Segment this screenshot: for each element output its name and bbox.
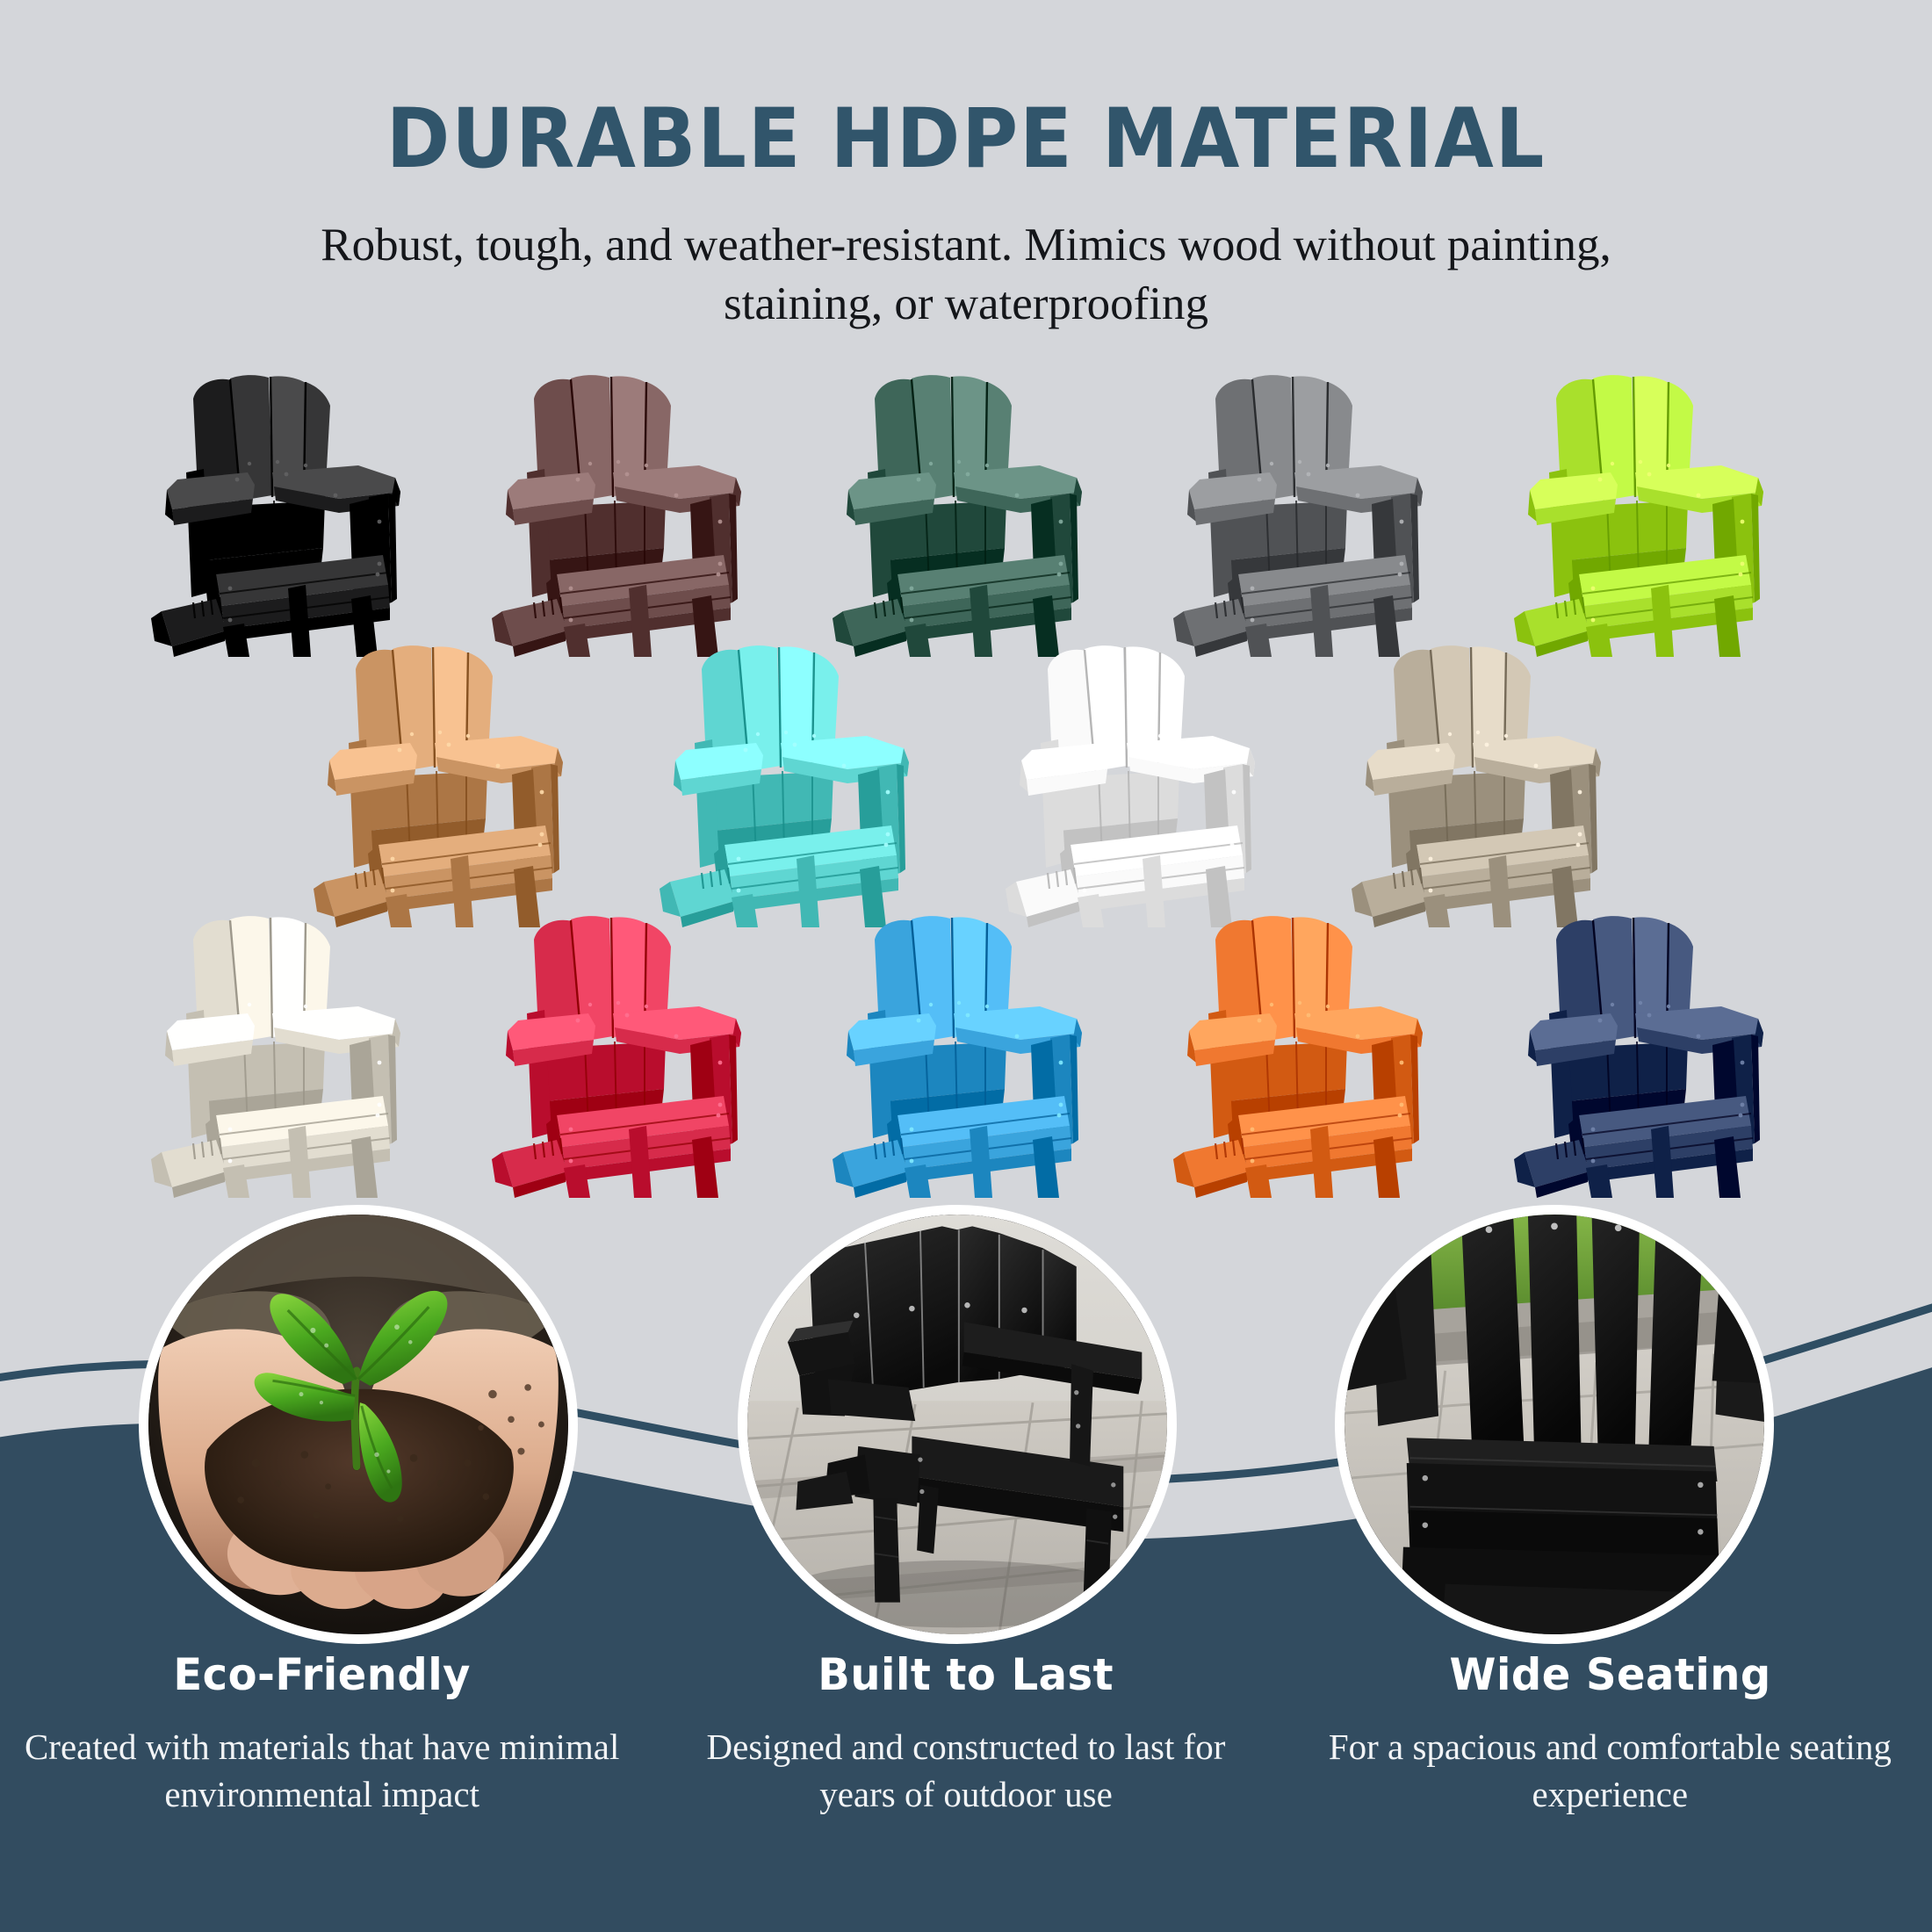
adirondack-chair-icon: [472, 367, 778, 657]
feature-title: Eco-Friendly: [35, 1649, 609, 1700]
header-section: DURABLE HDPE MATERIAL Robust, tough, and…: [0, 0, 1932, 334]
page-title: DURABLE HDPE MATERIAL: [68, 98, 1864, 181]
feature-title: Built to Last: [679, 1649, 1253, 1700]
eco-friendly-photo-circle: [139, 1205, 578, 1644]
chair-swatch-lime-green[interactable]: [1495, 367, 1800, 657]
chair-swatch-blue[interactable]: [813, 908, 1119, 1198]
black-chair-patio-illustration: [747, 1215, 1167, 1634]
chair-swatch-black[interactable]: [132, 367, 437, 657]
feature-title: Wide Seating: [1323, 1649, 1897, 1700]
adirondack-chair-icon: [132, 367, 437, 657]
chair-swatch-white[interactable]: [986, 638, 1292, 927]
feature-list: Eco-Friendly Created with materials that…: [0, 1649, 1932, 1818]
chair-swatch-gray[interactable]: [1154, 367, 1460, 657]
adirondack-chair-icon: [1332, 638, 1638, 927]
chair-swatch-taupe[interactable]: [1332, 638, 1638, 927]
chair-color-grid: [0, 367, 1932, 1198]
chair-swatch-turquoise[interactable]: [640, 638, 946, 927]
feature-description: For a spacious and comfortable seating e…: [1311, 1723, 1909, 1818]
adirondack-chair-icon: [1154, 367, 1460, 657]
wide-seat-closeup-photo: [1344, 1215, 1764, 1634]
adirondack-chair-icon: [472, 908, 778, 1198]
feature-eco-friendly: Eco-Friendly Created with materials that…: [0, 1649, 644, 1818]
infographic-canvas: DURABLE HDPE MATERIAL Robust, tough, and…: [0, 0, 1932, 1932]
feature-built-to-last: Built to Last Designed and constructed t…: [644, 1649, 1287, 1818]
chair-swatch-dark-green[interactable]: [813, 367, 1119, 657]
adirondack-chair-icon: [1495, 367, 1800, 657]
feature-description: Created with materials that have minimal…: [23, 1723, 621, 1818]
adirondack-chair-icon: [986, 638, 1292, 927]
chair-swatch-orange[interactable]: [1154, 908, 1460, 1198]
chair-swatch-brown[interactable]: [472, 367, 778, 657]
adirondack-chair-icon: [294, 638, 600, 927]
adirondack-chair-icon: [1154, 908, 1460, 1198]
chair-swatch-ivory[interactable]: [132, 908, 437, 1198]
adirondack-chair-icon: [640, 638, 946, 927]
adirondack-chair-icon: [132, 908, 437, 1198]
chair-swatch-red[interactable]: [472, 908, 778, 1198]
built-to-last-photo-circle: [738, 1205, 1177, 1644]
wide-seating-photo-circle: [1335, 1205, 1774, 1644]
hands-holding-seedling-photo: [148, 1215, 568, 1634]
black-chair-on-patio-photo: [747, 1215, 1167, 1634]
wide-seat-closeup-illustration: [1344, 1215, 1764, 1634]
chair-row: [0, 367, 1932, 657]
page-subtitle: Robust, tough, and weather-resistant. Mi…: [281, 216, 1651, 334]
chair-row: [0, 908, 1932, 1198]
feature-photos: [0, 1200, 1932, 1656]
seedling-illustration: [148, 1215, 568, 1634]
feature-wide-seating: Wide Seating For a spacious and comforta…: [1288, 1649, 1932, 1818]
adirondack-chair-icon: [1495, 908, 1800, 1198]
chair-swatch-teak[interactable]: [294, 638, 600, 927]
adirondack-chair-icon: [813, 367, 1119, 657]
chair-swatch-navy-blue[interactable]: [1495, 908, 1800, 1198]
feature-description: Designed and constructed to last for yea…: [667, 1723, 1265, 1818]
adirondack-chair-icon: [813, 908, 1119, 1198]
chair-row: [0, 638, 1932, 927]
